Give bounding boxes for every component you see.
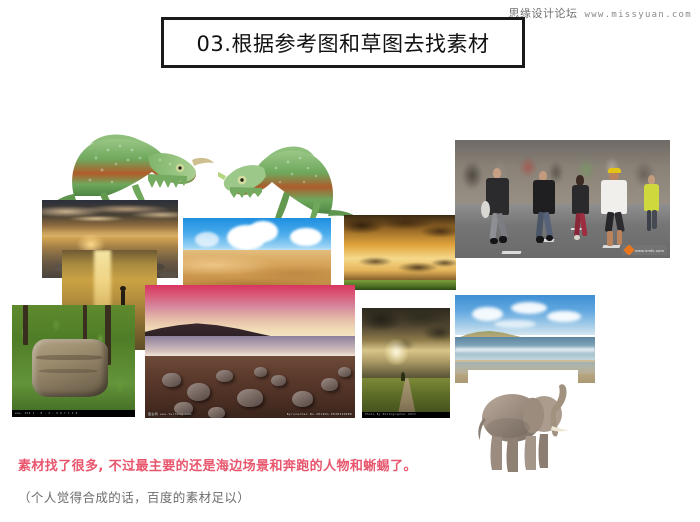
lone-tree (401, 372, 405, 381)
cloud (195, 232, 219, 247)
photo-source-logo: www.kmfc.com (622, 245, 667, 255)
photo-caption-text: www. 910 1 - 8 . 2 - 0 8 7 1 2 0 (12, 410, 135, 417)
runner-figure (567, 175, 595, 248)
photo-caption-bar: Photo By Photographer 2013 (362, 412, 450, 418)
photo-caption-text: Photo By Photographer 2013 (362, 412, 450, 418)
runner-figure (597, 168, 634, 253)
photo-runners-street[interactable]: www.kmfc.com (455, 140, 670, 258)
green-field (344, 280, 456, 290)
photo-golden-clouds[interactable] (344, 215, 456, 290)
cloud-layer (42, 202, 178, 235)
photo-caption-bar: www. 910 1 - 8 . 2 - 0 8 7 1 2 0 (12, 410, 135, 417)
reference-image-collage: www.kmfc.com (0, 80, 700, 440)
photo-rock-in-grass[interactable]: www. 910 1 - 8 . 2 - 0 8 7 1 2 0 (12, 305, 135, 417)
boulder (216, 370, 233, 382)
cloud (248, 221, 278, 242)
tree-trunk (23, 305, 28, 345)
chameleon-left-icon (218, 114, 363, 232)
boulder (187, 383, 210, 400)
runner-figure (481, 168, 515, 251)
photo-pink-sky-beach[interactable]: 图虫网 www.tuchong.com Byronechao No.2012No… (145, 285, 355, 418)
boulder (162, 373, 181, 388)
house-logo-icon (623, 244, 634, 255)
slide-title-text: 03.根据参考图和草图去找素材 (197, 28, 490, 58)
slide-canvas: 思缘设计论坛 www.missyuan.com 03.根据参考图和草图去找素材 (0, 0, 700, 522)
caption-primary: 素材找了很多, 不过最主要的还是海边场景和奔跑的人物和蜥蜴了。 (18, 455, 417, 474)
photo-watermark-right: Byronechao No.2012No.0048340980 (287, 412, 352, 416)
cloud (290, 228, 323, 246)
slide-title-box: 03.根据参考图和草图去找素材 (161, 17, 525, 68)
boulder (338, 367, 351, 376)
large-rock (32, 339, 108, 397)
runner-figure (528, 171, 560, 251)
boulder (254, 367, 267, 376)
watermark-site-url: www.missyuan.com (585, 10, 693, 20)
elephant-icon (468, 370, 578, 480)
boulder (208, 407, 225, 418)
storm-clouds (344, 215, 456, 290)
photo-chameleon-left[interactable] (218, 114, 363, 232)
photo-watermark-left: 图虫网 www.tuchong.com (148, 412, 192, 416)
sun-burst (385, 339, 408, 365)
photo-source-url: www.kmfc.com (635, 248, 664, 253)
site-watermark: 思缘设计论坛 www.missyuan.com (509, 5, 693, 21)
boulder (271, 375, 286, 386)
cloud (494, 320, 536, 328)
dune-shading (183, 250, 331, 288)
boulder (237, 389, 262, 408)
boulder (292, 391, 313, 407)
surf-line (455, 346, 595, 353)
runner-figure (640, 175, 664, 236)
caption-secondary: （个人觉得合成的话，百度的素材足以） (18, 487, 250, 506)
photo-dramatic-sky[interactable]: Photo By Photographer 2013 (362, 308, 450, 418)
photo-desert-blue-sky[interactable] (183, 218, 331, 288)
photo-elephant[interactable] (468, 370, 578, 480)
